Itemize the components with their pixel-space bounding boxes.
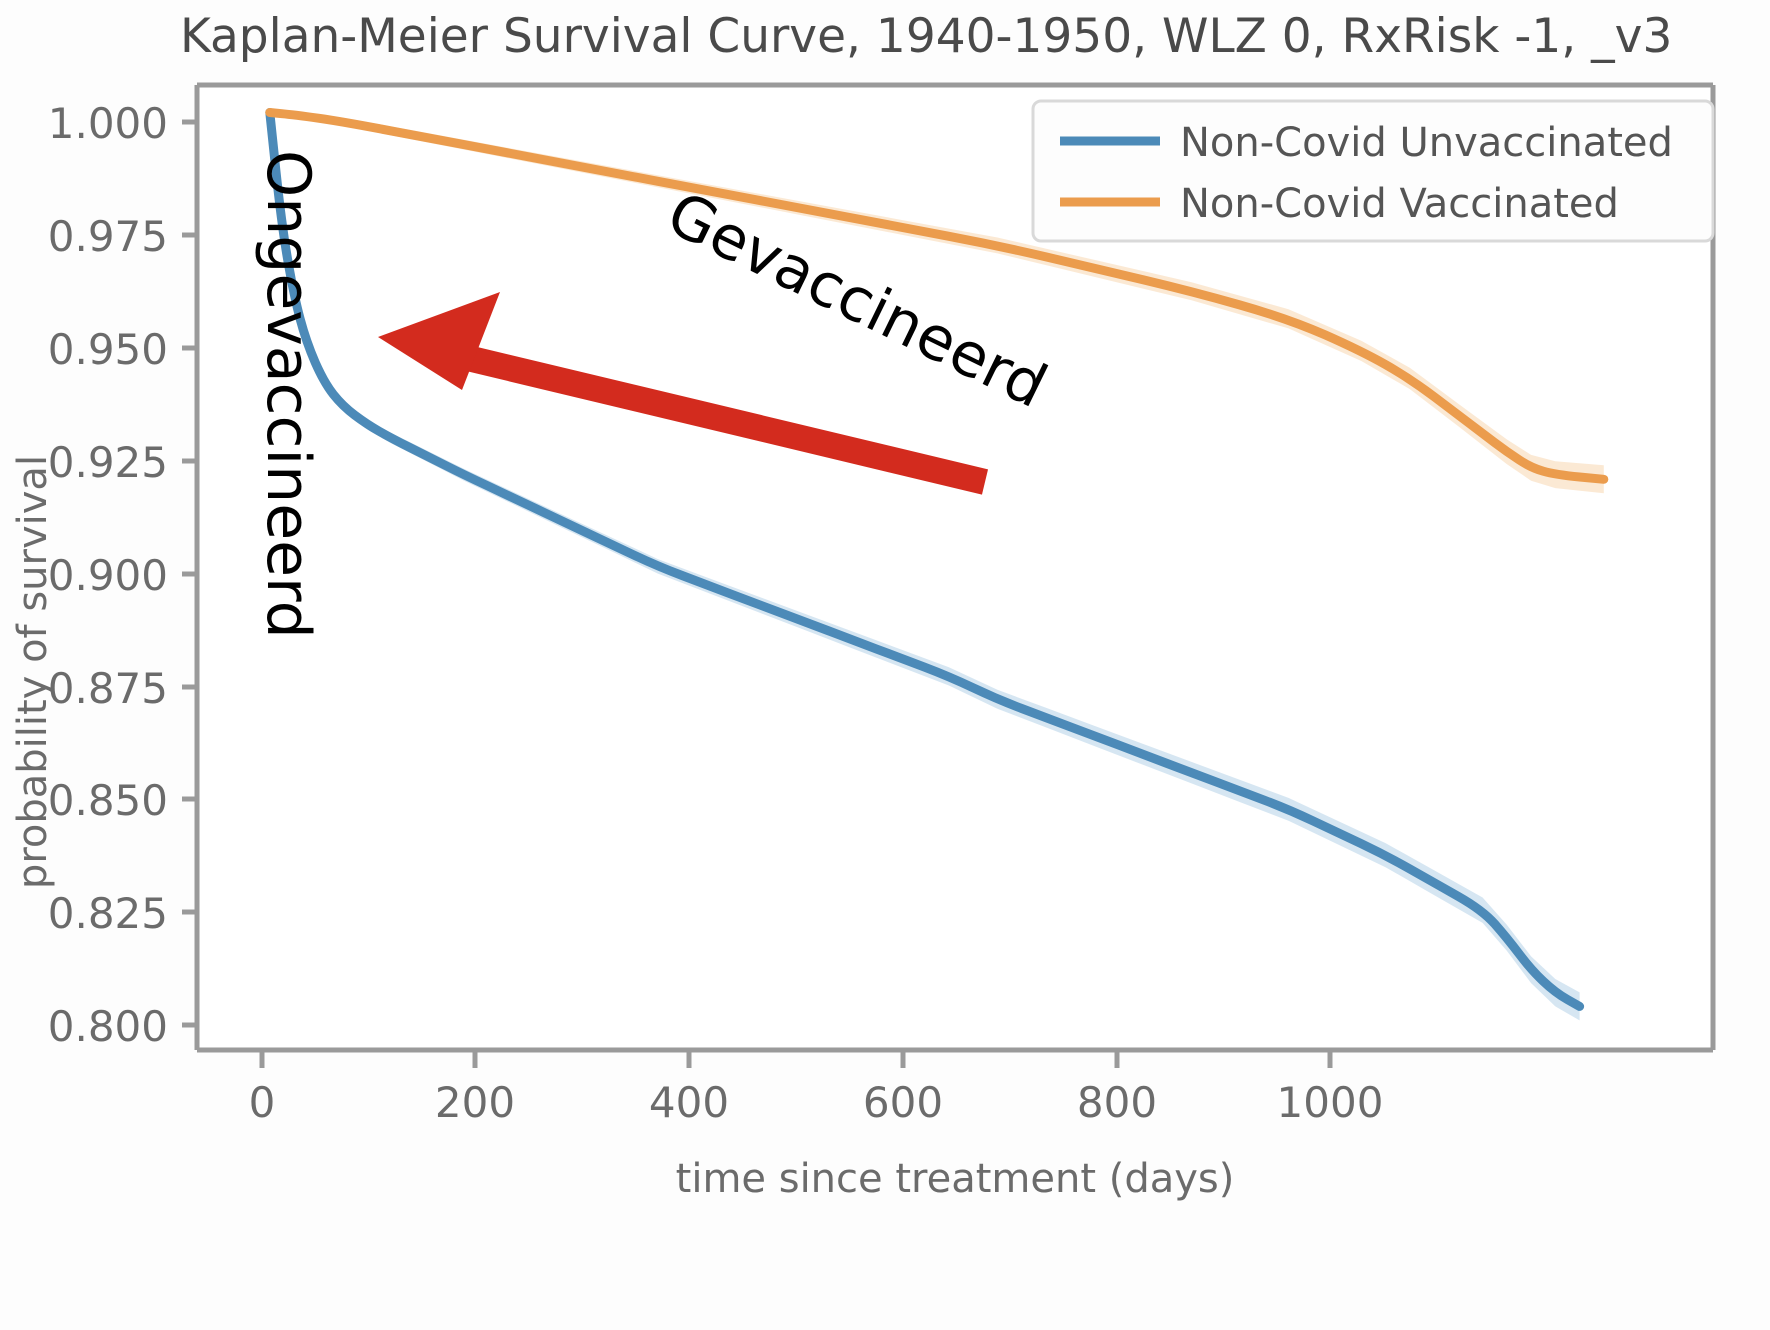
y-tick-labels: 1.000 0.975 0.950 0.925 0.900 0.875 0.85… bbox=[48, 99, 168, 1051]
x-tick-label: 600 bbox=[863, 1078, 943, 1127]
y-tick-label: 0.875 bbox=[48, 664, 168, 713]
y-tick-label: 0.975 bbox=[48, 212, 168, 261]
x-tick-label: 400 bbox=[649, 1078, 729, 1127]
y-tick-label: 0.825 bbox=[48, 889, 168, 938]
legend[interactable]: Non-Covid Unvaccinated Non-Covid Vaccina… bbox=[1033, 101, 1713, 241]
y-tick-label: 1.000 bbox=[48, 99, 168, 148]
y-tick-label: 0.925 bbox=[48, 438, 168, 487]
y-tick-label: 0.850 bbox=[48, 776, 168, 825]
chart-figure: Kaplan-Meier Survival Curve, 1940-1950, … bbox=[0, 0, 1770, 1330]
y-tick-label: 0.800 bbox=[48, 1002, 168, 1051]
legend-label-vaccinated: Non-Covid Vaccinated bbox=[1180, 181, 1619, 227]
y-tick-label: 0.950 bbox=[48, 325, 168, 374]
x-tick-label: 200 bbox=[435, 1078, 515, 1127]
x-tick-label: 1000 bbox=[1277, 1078, 1384, 1127]
x-axis-label: time since treatment (days) bbox=[676, 1156, 1235, 1202]
kaplan-meier-plot: Kaplan-Meier Survival Curve, 1940-1950, … bbox=[0, 0, 1770, 1330]
x-tick-label: 0 bbox=[249, 1078, 276, 1127]
y-axis-label: probability of survival bbox=[10, 455, 56, 889]
x-tick-label: 800 bbox=[1077, 1078, 1157, 1127]
annotation-ongevaccineerd: Ongevaccineerd bbox=[253, 150, 323, 639]
chart-title: Kaplan-Meier Survival Curve, 1940-1950, … bbox=[180, 9, 1672, 64]
legend-label-unvaccinated: Non-Covid Unvaccinated bbox=[1180, 120, 1673, 166]
y-tick-label: 0.900 bbox=[48, 551, 168, 600]
